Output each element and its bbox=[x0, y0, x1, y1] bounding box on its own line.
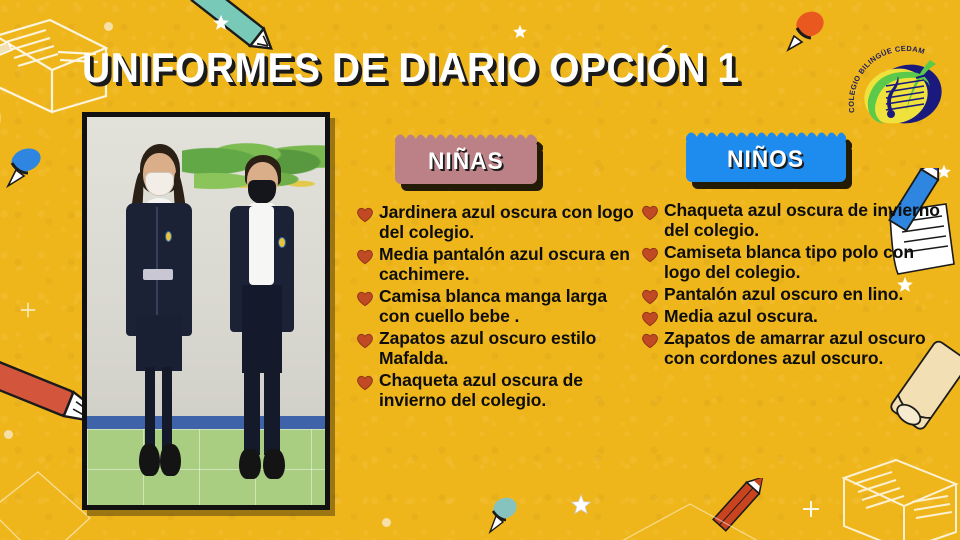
girl-leg-left bbox=[145, 367, 155, 451]
photo-content bbox=[87, 117, 325, 505]
scallop-edge bbox=[686, 131, 846, 141]
girl-face-mask bbox=[145, 172, 174, 196]
list-item-text: Zapatos de amarrar azul oscuro con cordo… bbox=[664, 328, 941, 369]
boy-leg-right bbox=[264, 360, 280, 456]
student-boy bbox=[218, 148, 318, 489]
heart-icon bbox=[356, 248, 374, 265]
badge-label-ninas: NIÑAS bbox=[428, 148, 504, 176]
heart-icon bbox=[356, 206, 374, 223]
girl-belt bbox=[143, 269, 173, 279]
boy-logo-badge bbox=[278, 237, 286, 249]
list-item-text: Camisa blanca manga larga con cuello beb… bbox=[379, 286, 636, 327]
heart-icon bbox=[356, 332, 374, 349]
list-item: Jardinera azul oscura con logo del coleg… bbox=[356, 202, 636, 243]
list-item-text: Zapatos azul oscuro estilo Mafalda. bbox=[379, 328, 636, 369]
list-item-text: Camiseta blanca tipo polo con logo del c… bbox=[664, 242, 941, 283]
category-badge-ninas[interactable]: NIÑAS bbox=[395, 140, 537, 184]
requirements-list-ninas: Jardinera azul oscura con logo del coleg… bbox=[356, 202, 636, 412]
list-item: Chaqueta azul oscura de invierno del col… bbox=[356, 370, 636, 411]
heart-icon bbox=[641, 288, 659, 305]
girl-shoe-left bbox=[139, 444, 160, 475]
list-item-text: Chaqueta azul oscura de invierno del col… bbox=[379, 370, 636, 411]
list-item: Zapatos azul oscuro estilo Mafalda. bbox=[356, 328, 636, 369]
boy-face-mask bbox=[248, 180, 276, 204]
list-item: Chaqueta azul oscura de invierno del col… bbox=[641, 200, 941, 241]
list-item-text: Jardinera azul oscura con logo del coleg… bbox=[379, 202, 636, 243]
uniform-photo bbox=[82, 112, 330, 510]
girl-logo-badge bbox=[165, 231, 172, 242]
girl-shoe-right bbox=[160, 444, 181, 475]
list-item-text: Media azul oscura. bbox=[664, 306, 818, 326]
category-badge-ninos[interactable]: NIÑOS bbox=[686, 138, 846, 182]
heart-icon bbox=[356, 374, 374, 391]
list-item-text: Media pantalón azul oscura en cachimere. bbox=[379, 244, 636, 285]
girl-leg-right bbox=[162, 367, 172, 451]
list-item-text: Pantalón azul oscuro en lino. bbox=[664, 284, 903, 304]
heart-icon bbox=[641, 246, 659, 263]
scallop-edge bbox=[395, 133, 537, 143]
boy-leg-left bbox=[244, 360, 260, 456]
heart-icon bbox=[641, 332, 659, 349]
heart-icon bbox=[641, 310, 659, 327]
list-item-text: Chaqueta azul oscura de invierno del col… bbox=[664, 200, 941, 241]
school-logo: COLEGIO BILINGÜE CEDAM bbox=[846, 34, 958, 144]
boy-shoe-left bbox=[239, 449, 261, 480]
requirements-list-ninos: Chaqueta azul oscura de invierno del col… bbox=[641, 200, 941, 370]
boy-polo-front bbox=[249, 206, 274, 285]
list-item: Media azul oscura. bbox=[641, 306, 941, 327]
badge-label-ninos: NIÑOS bbox=[728, 146, 805, 174]
student-girl bbox=[116, 140, 216, 489]
page-title: UNIFORMES DE DIARIO OPCIÓN 1 bbox=[82, 44, 740, 92]
heart-icon bbox=[641, 204, 659, 221]
list-item: Pantalón azul oscuro en lino. bbox=[641, 284, 941, 305]
list-item: Camiseta blanca tipo polo con logo del c… bbox=[641, 242, 941, 283]
list-item: Zapatos de amarrar azul oscuro con cordo… bbox=[641, 328, 941, 369]
list-item: Media pantalón azul oscura en cachimere. bbox=[356, 244, 636, 285]
girl-skirt bbox=[136, 315, 182, 371]
boy-shoe-right bbox=[263, 449, 285, 480]
heart-icon bbox=[356, 290, 374, 307]
list-item: Camisa blanca manga larga con cuello beb… bbox=[356, 286, 636, 327]
